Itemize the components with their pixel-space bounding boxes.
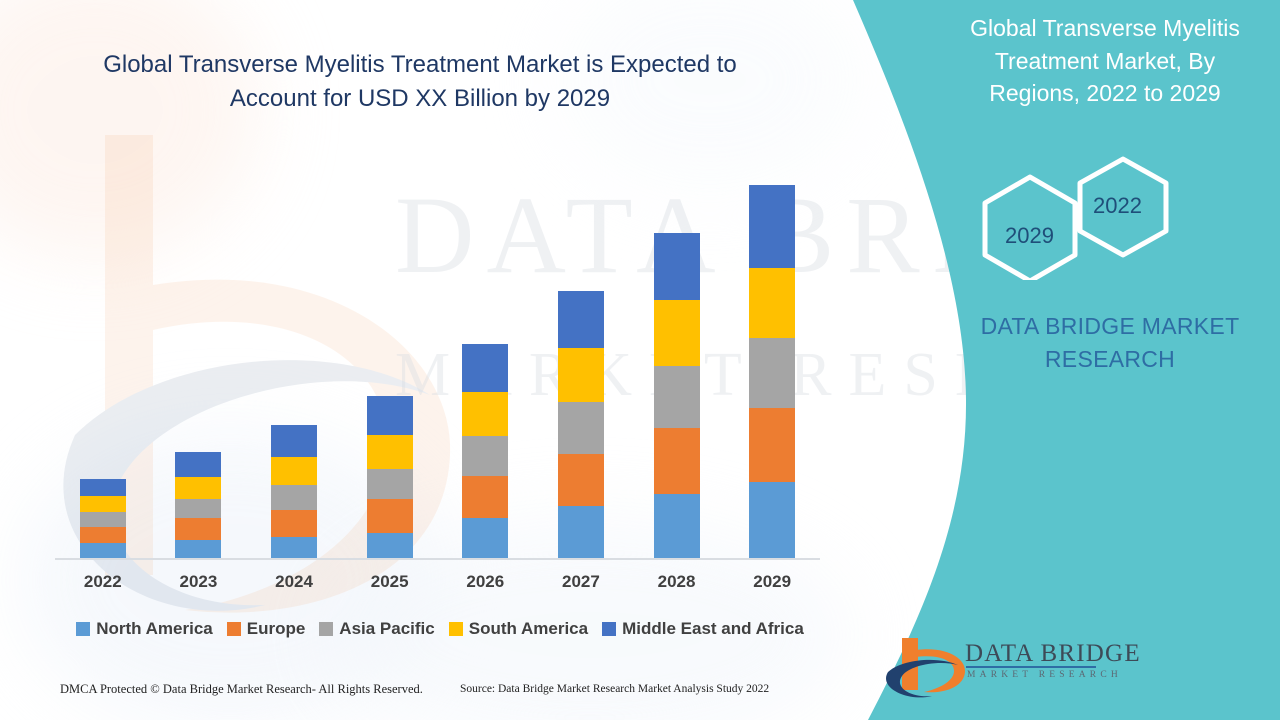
bar-segment bbox=[271, 457, 317, 485]
legend-swatch-icon bbox=[227, 622, 241, 636]
hexagon-label-2022: 2022 bbox=[1093, 193, 1142, 219]
hexagon-badges: 2022 2029 bbox=[975, 155, 1190, 280]
stacked-bar bbox=[749, 185, 795, 558]
bar-segment bbox=[462, 344, 508, 392]
bar-segment bbox=[271, 485, 317, 510]
bar-segment bbox=[558, 506, 604, 558]
x-axis-label-2024: 2024 bbox=[247, 572, 342, 598]
bar-column-2025 bbox=[342, 150, 437, 558]
bar-segment bbox=[654, 494, 700, 558]
stacked-bar bbox=[462, 344, 508, 558]
legend-item-asia-pacific[interactable]: Asia Pacific bbox=[319, 619, 434, 639]
bar-segment bbox=[80, 496, 126, 512]
legend-label: Asia Pacific bbox=[339, 619, 434, 639]
legend-swatch-icon bbox=[319, 622, 333, 636]
x-axis-label-2025: 2025 bbox=[342, 572, 437, 598]
legend-label: Middle East and Africa bbox=[622, 619, 804, 639]
legend-swatch-icon bbox=[76, 622, 90, 636]
x-axis-label-2022: 2022 bbox=[55, 572, 150, 598]
bar-segment bbox=[654, 233, 700, 300]
footer-dmca-notice: DMCA Protected © Data Bridge Market Rese… bbox=[60, 682, 423, 697]
x-axis-label-2029: 2029 bbox=[725, 572, 820, 598]
stacked-bar bbox=[654, 233, 700, 558]
bar-segment bbox=[367, 435, 413, 469]
bar-segment bbox=[367, 499, 413, 533]
bar-segment bbox=[175, 477, 221, 499]
bar-segment bbox=[749, 338, 795, 408]
bar-segment bbox=[175, 540, 221, 558]
bar-segment bbox=[80, 512, 126, 527]
bar-segment bbox=[749, 408, 795, 482]
stacked-bar bbox=[367, 396, 413, 558]
bar-segment bbox=[80, 479, 126, 496]
x-axis-label-2026: 2026 bbox=[438, 572, 533, 598]
bar-segment bbox=[271, 537, 317, 558]
chart-title: Global Transverse Myelitis Treatment Mar… bbox=[70, 48, 770, 116]
bar-segment bbox=[558, 348, 604, 402]
data-bridge-wordmark: DATA BRIDGE bbox=[965, 640, 1141, 668]
x-axis-line bbox=[55, 558, 820, 560]
x-axis-label-2027: 2027 bbox=[533, 572, 628, 598]
legend-item-south-america[interactable]: South America bbox=[449, 619, 588, 639]
legend-label: Europe bbox=[247, 619, 306, 639]
legend-item-middle-east-and-africa[interactable]: Middle East and Africa bbox=[602, 619, 804, 639]
bar-column-2028 bbox=[629, 150, 724, 558]
panel-title: Global Transverse Myelitis Treatment Mar… bbox=[955, 12, 1255, 110]
bar-segment bbox=[462, 476, 508, 518]
panel-brand-text: DATA BRIDGE MARKET RESEARCH bbox=[960, 310, 1260, 377]
bar-segment bbox=[462, 436, 508, 476]
legend-swatch-icon bbox=[602, 622, 616, 636]
bar-segment bbox=[654, 366, 700, 428]
x-axis-label-2028: 2028 bbox=[629, 572, 724, 598]
chart-bars bbox=[55, 150, 820, 558]
chart-legend: North AmericaEuropeAsia PacificSouth Ame… bbox=[55, 616, 825, 642]
x-axis-label-2023: 2023 bbox=[151, 572, 246, 598]
bar-column-2023 bbox=[151, 150, 246, 558]
data-bridge-subtitle: MARKET RESEARCH bbox=[967, 670, 1122, 680]
bar-segment bbox=[80, 527, 126, 543]
legend-swatch-icon bbox=[449, 622, 463, 636]
bar-segment bbox=[749, 482, 795, 558]
bar-segment bbox=[175, 518, 221, 540]
bar-segment bbox=[749, 185, 795, 268]
footer-source-note: Source: Data Bridge Market Research Mark… bbox=[460, 683, 769, 695]
stacked-bar bbox=[175, 452, 221, 558]
bar-segment bbox=[80, 543, 126, 558]
bar-column-2026 bbox=[438, 150, 533, 558]
hexagon-label-2029: 2029 bbox=[1005, 223, 1054, 249]
bar-segment bbox=[175, 452, 221, 477]
bar-segment bbox=[749, 268, 795, 338]
bar-segment bbox=[558, 454, 604, 506]
bar-segment bbox=[367, 533, 413, 558]
x-axis-labels: 20222023202420252026202720282029 bbox=[55, 572, 820, 598]
stacked-bar bbox=[271, 425, 317, 558]
bar-segment bbox=[367, 469, 413, 499]
legend-label: South America bbox=[469, 619, 588, 639]
bar-column-2024 bbox=[247, 150, 342, 558]
bar-segment bbox=[271, 510, 317, 537]
bar-segment bbox=[367, 396, 413, 435]
bar-segment bbox=[271, 425, 317, 457]
bar-column-2022 bbox=[55, 150, 150, 558]
bar-segment bbox=[462, 392, 508, 436]
legend-item-europe[interactable]: Europe bbox=[227, 619, 306, 639]
bar-column-2029 bbox=[725, 150, 820, 558]
bar-segment bbox=[558, 291, 604, 348]
bar-segment bbox=[654, 300, 700, 366]
infographic-canvas: DATA BRIDGE MARKET RESEARCH Global Trans… bbox=[0, 0, 1280, 720]
bar-segment bbox=[175, 499, 221, 518]
bar-segment bbox=[654, 428, 700, 494]
stacked-bar bbox=[558, 291, 604, 558]
footer: DMCA Protected © Data Bridge Market Rese… bbox=[0, 682, 840, 706]
stacked-bar bbox=[80, 479, 126, 558]
bar-column-2027 bbox=[533, 150, 628, 558]
bar-segment bbox=[558, 402, 604, 454]
bar-segment bbox=[462, 518, 508, 558]
logo-rule bbox=[966, 666, 1096, 668]
legend-label: North America bbox=[96, 619, 213, 639]
legend-item-north-america[interactable]: North America bbox=[76, 619, 213, 639]
